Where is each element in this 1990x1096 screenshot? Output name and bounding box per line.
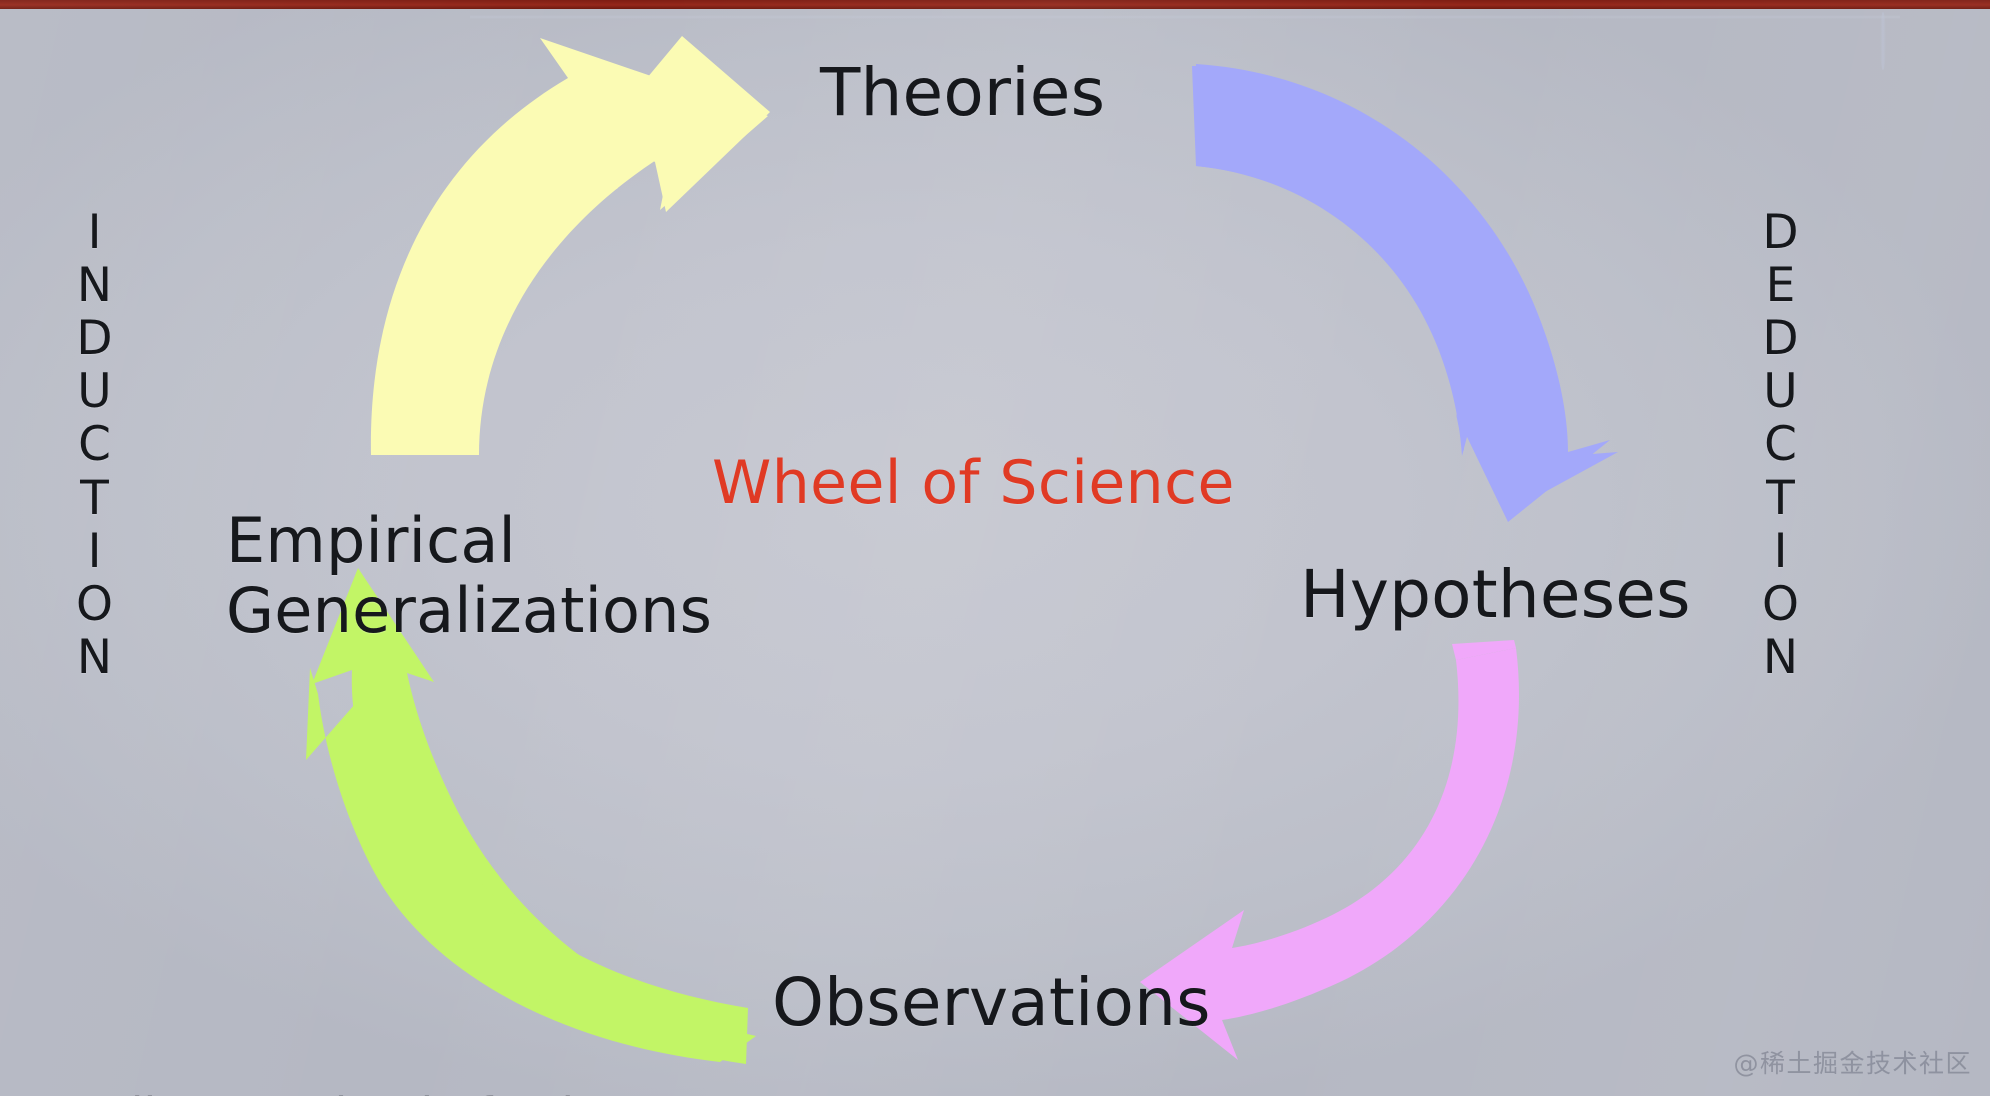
deduction-letter: D	[1762, 206, 1798, 259]
node-label-theories: Theories	[820, 58, 1105, 128]
node-label-hypotheses: Hypotheses	[1300, 560, 1691, 630]
induction-letter: I	[88, 525, 102, 578]
deduction-letter: N	[1763, 631, 1798, 684]
deduction-letter: D	[1762, 312, 1798, 365]
deduction-letter: T	[1766, 472, 1795, 525]
deduction-letter: U	[1763, 365, 1797, 418]
slide-canvas: Theories Hypotheses Observations Empiric…	[0, 0, 1990, 1096]
induction-letter: I	[88, 206, 102, 259]
yellow-arrow-icon	[371, 36, 770, 455]
empirical-line-1: Empirical	[226, 504, 516, 577]
induction-letter: C	[78, 418, 111, 471]
node-label-observations: Observations	[772, 968, 1211, 1038]
deduction-letter: I	[1774, 525, 1788, 578]
induction-letter: U	[77, 365, 111, 418]
side-label-deduction: D E D U C T I O N	[1762, 206, 1799, 684]
deduction-letter: E	[1766, 259, 1796, 312]
watermark: @稀土掘金技术社区	[1733, 1044, 1972, 1080]
blue-arrow-icon	[1192, 64, 1618, 522]
deduction-letter: C	[1764, 418, 1797, 471]
induction-letter: T	[80, 472, 109, 525]
induction-letter: D	[76, 312, 112, 365]
induction-letter: O	[76, 578, 113, 631]
node-label-empirical-generalizations: Empirical Generalizations	[226, 508, 712, 643]
empirical-line-2: Generalizations	[226, 578, 712, 644]
deduction-letter: O	[1762, 578, 1799, 631]
induction-letter: N	[77, 259, 112, 312]
induction-letter: N	[77, 631, 112, 684]
cropped-caption-text: Wallace's Wheel of Science	[60, 1088, 1540, 1096]
slide-title: Wheel of Science	[712, 448, 1235, 518]
side-label-induction: I N D U C T I O N	[76, 206, 113, 684]
